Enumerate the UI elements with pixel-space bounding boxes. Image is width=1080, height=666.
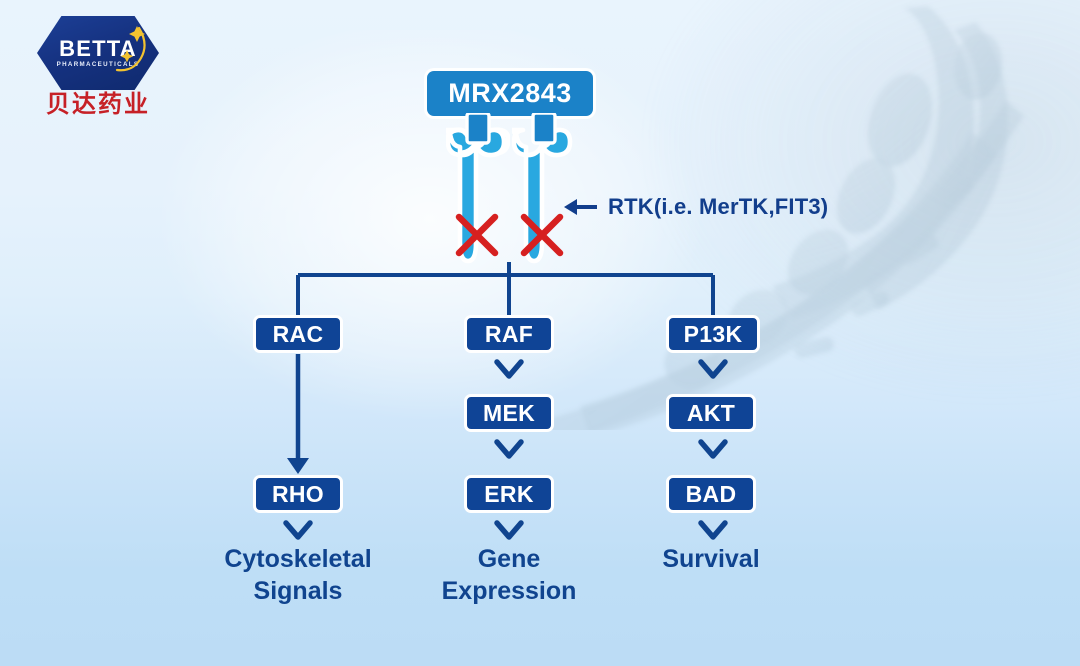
outcome-label-cytoskeletal-signals: Cytoskeletal Signals (178, 543, 418, 607)
chevron-down-icon-erk-outcome (494, 519, 524, 541)
chevron-down-icon-mek-erk (494, 438, 524, 460)
pathway-node-label: MEK (483, 402, 535, 425)
pathway-node-rac[interactable]: RAC (253, 315, 343, 353)
pathway-node-erk[interactable]: ERK (464, 475, 554, 513)
pathway-node-label: RAC (273, 323, 324, 346)
pathway-node-label: BAD (686, 483, 737, 506)
pathway-node-label: ERK (484, 483, 533, 506)
chevron-down-icon-p13k-akt (698, 358, 728, 380)
chevron-down-icon-rho-outcome (283, 519, 313, 541)
pathway-node-bad[interactable]: BAD (666, 475, 756, 513)
pathway-node-p13k[interactable]: P13K (666, 315, 760, 353)
pathway-node-mek[interactable]: MEK (464, 394, 554, 432)
chevron-down-icon-bad-outcome (698, 519, 728, 541)
pathway-node-label: P13K (684, 323, 743, 346)
chevron-down-icon-raf-mek (494, 358, 524, 380)
diagram-canvas: BETTA PHARMACEUTICALS 贝达药业 MRX2843 (0, 0, 1080, 666)
pathway-node-akt[interactable]: AKT (666, 394, 756, 432)
pathway-node-label: RHO (272, 483, 324, 506)
arrow-rac-to-rho (287, 354, 309, 474)
chevron-down-icon-akt-bad (698, 438, 728, 460)
outcome-label-survival: Survival (591, 543, 831, 575)
pathway-node-label: AKT (687, 402, 735, 425)
pathway-node-label: RAF (485, 323, 533, 346)
pathway-node-rho[interactable]: RHO (253, 475, 343, 513)
pathway-node-raf[interactable]: RAF (464, 315, 554, 353)
